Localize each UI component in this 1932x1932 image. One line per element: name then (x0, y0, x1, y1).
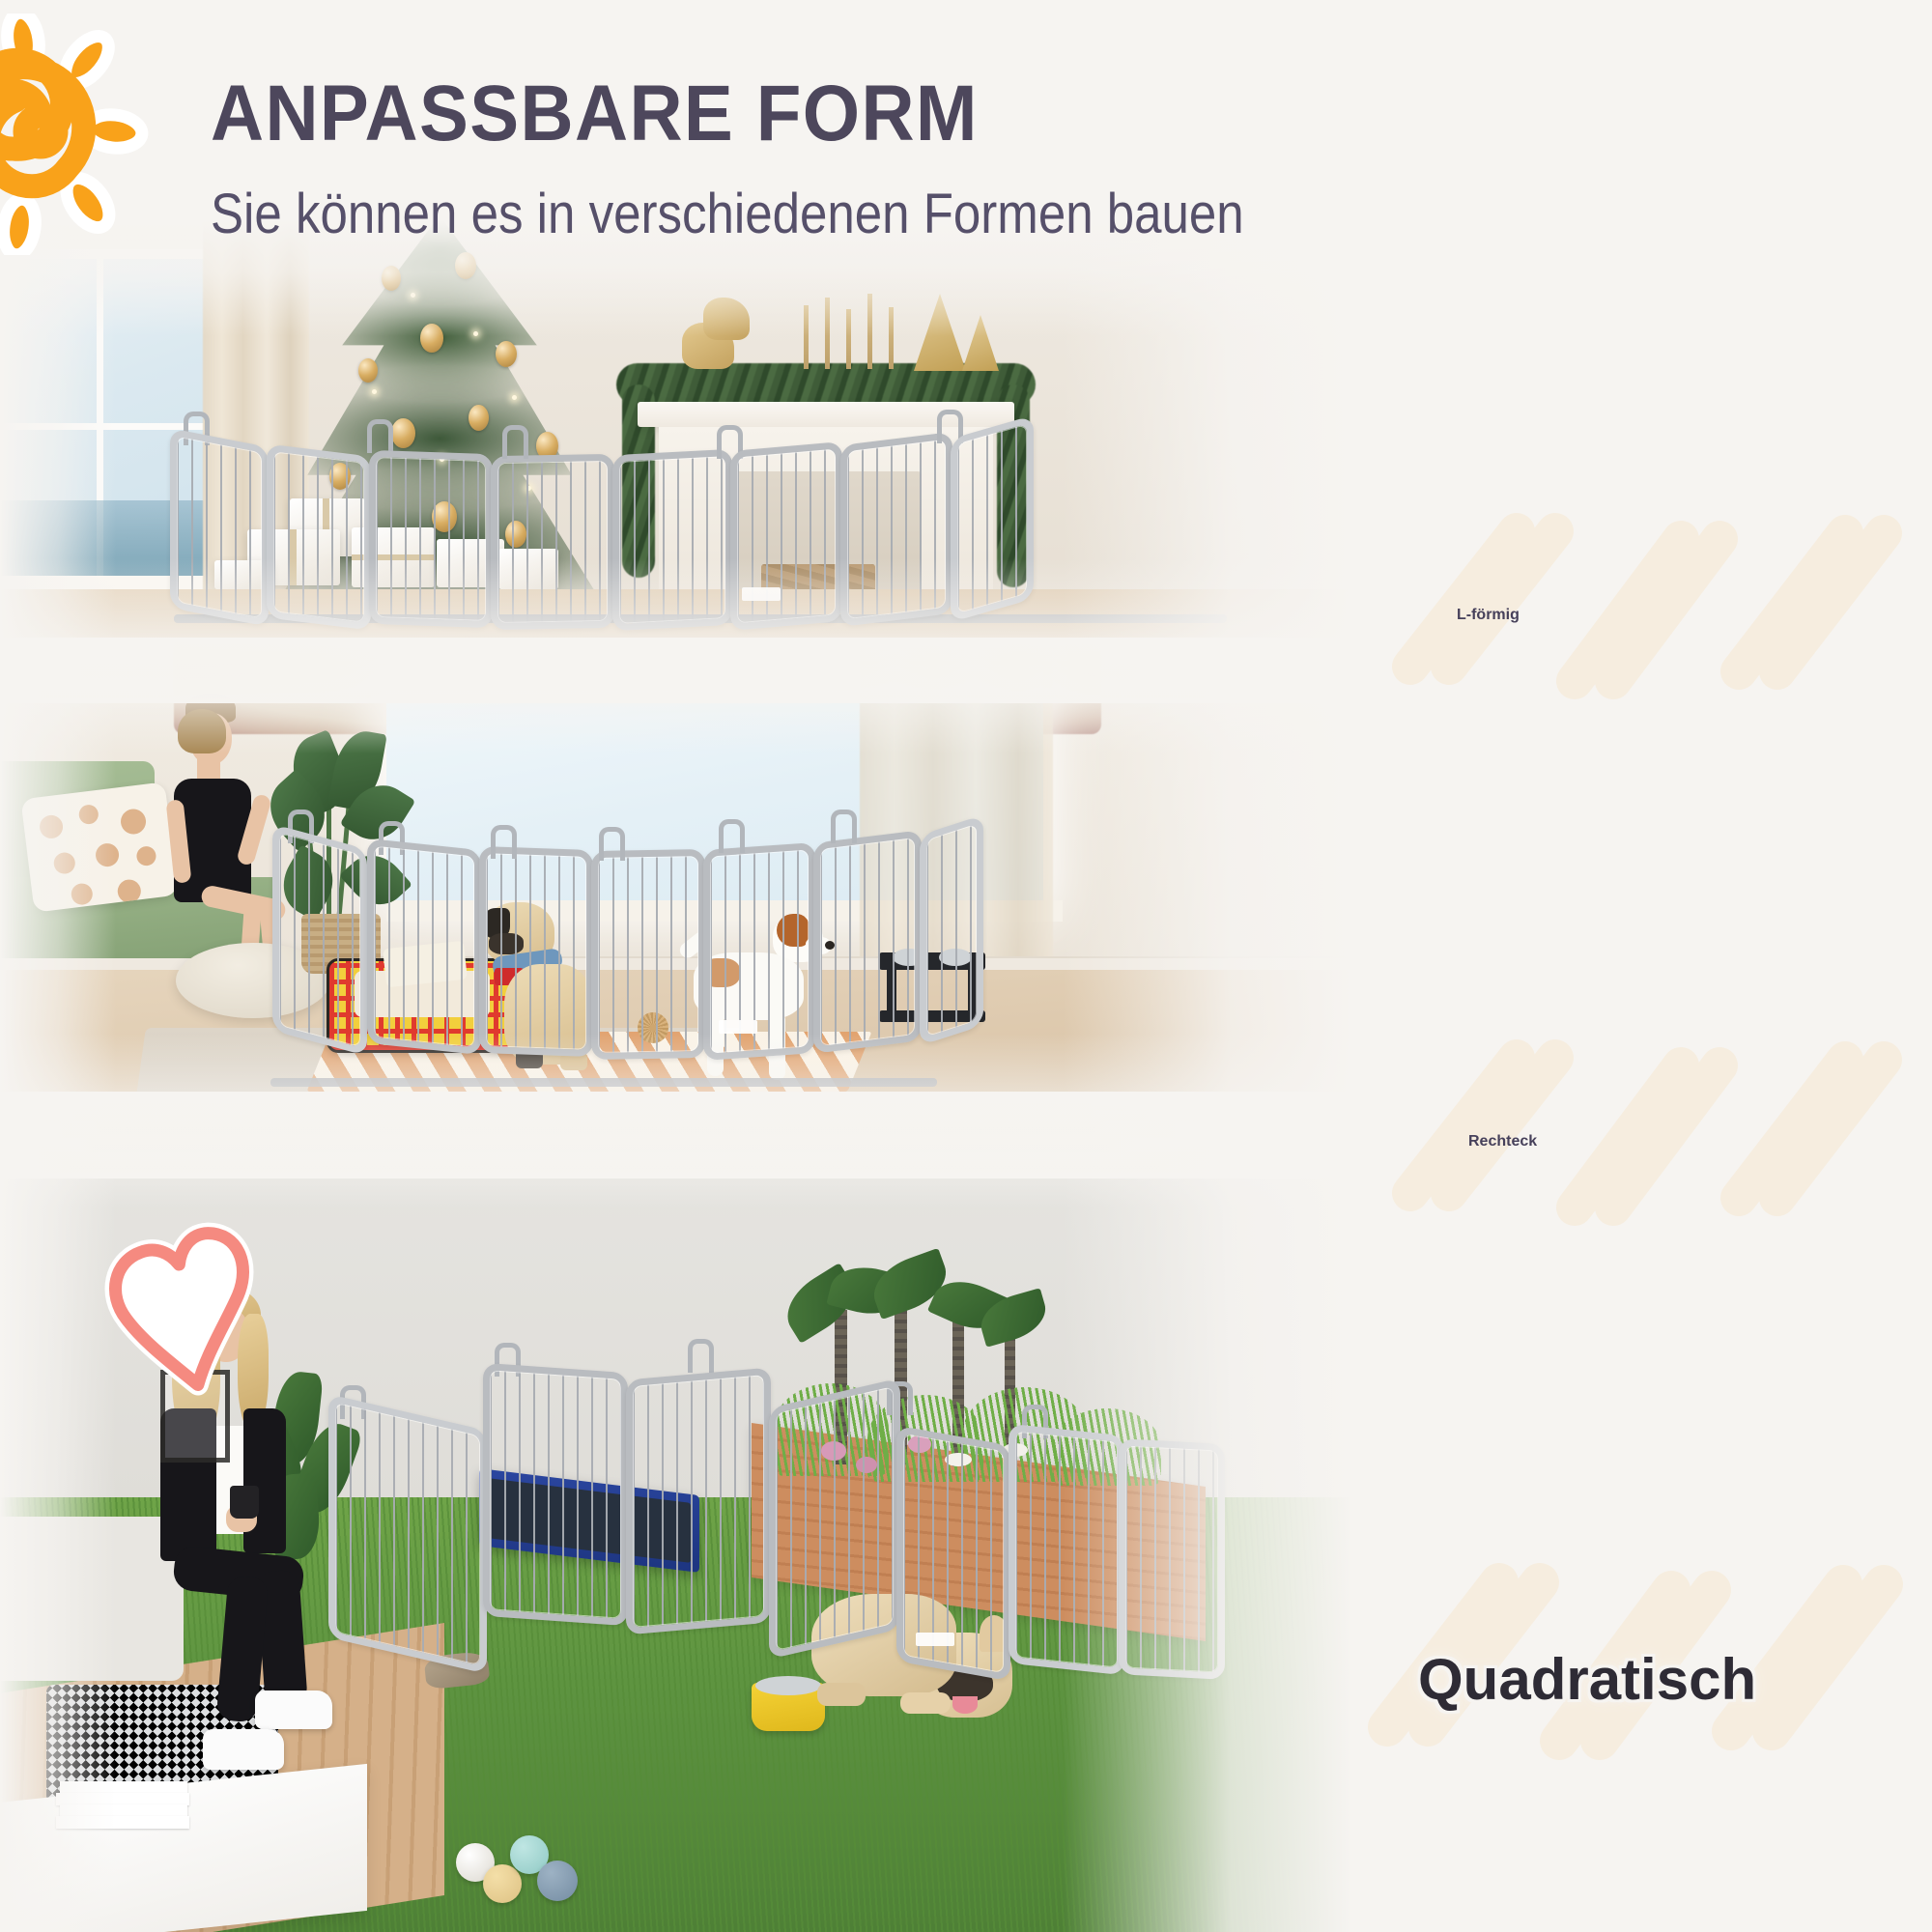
pen-panel (769, 1378, 900, 1659)
pen-panel (920, 814, 983, 1045)
metal-playpen-l-shaped (0, 220, 1352, 703)
heart-sticker (80, 1201, 298, 1419)
brand-tag (742, 587, 781, 601)
shape-label-rectangle: Rechteck (1468, 1133, 1537, 1151)
pen-hook (719, 819, 745, 853)
pen-panel (328, 1394, 487, 1674)
cream-brush-squiggle (1352, 1468, 1932, 1797)
pen-hook (502, 425, 528, 459)
sun-spiral-icon (0, 14, 201, 255)
hand-drawn-heart-icon (80, 1201, 298, 1419)
pen-hook (367, 419, 393, 453)
shape-label-square: Quadratisch (1418, 1646, 1756, 1713)
pen-hook (491, 825, 517, 859)
header: ANPASSBARE FORM Sie können es in verschi… (0, 0, 1932, 280)
pen-hook (831, 810, 857, 843)
brand-tag (916, 1633, 954, 1646)
pen-panel (170, 428, 269, 627)
brand-tag (719, 1020, 757, 1034)
shape-label-l-shape: L-förmig (1457, 607, 1520, 624)
poster-canvas: L-förmig Rechteck Quadratisch (0, 0, 1932, 1932)
pen-panel (267, 443, 371, 630)
label-l-shape: L-förmig (1381, 425, 1932, 734)
pen-hook (688, 1339, 714, 1373)
label-square: Quadratisch (1352, 1468, 1932, 1797)
pen-panel (813, 830, 922, 1054)
pen-panel (483, 1363, 628, 1626)
pen-panel (479, 846, 593, 1057)
pen-panel (367, 838, 481, 1055)
pen-panel (840, 432, 952, 627)
pen-base-rail (270, 1078, 937, 1087)
pen-panel (626, 1367, 771, 1634)
cream-brush-squiggle (1381, 425, 1932, 734)
pen-hook (599, 827, 625, 861)
scene-l-shape (0, 220, 1352, 703)
page-title: ANPASSBARE FORM (211, 73, 979, 155)
pen-panel (1119, 1438, 1225, 1680)
cream-brush-squiggle (1381, 952, 1932, 1261)
pen-panel (1009, 1424, 1124, 1676)
pen-panel (369, 450, 493, 628)
pen-panel (591, 849, 705, 1060)
page-subtitle: Sie können es in verschiedenen Formen ba… (211, 185, 1244, 243)
pen-panel (272, 824, 367, 1056)
label-rectangle: Rechteck (1381, 952, 1932, 1261)
pen-panel-gate[interactable] (730, 441, 842, 631)
pen-panel (951, 415, 1034, 623)
pen-panel (491, 454, 614, 630)
pen-panel (612, 449, 732, 631)
